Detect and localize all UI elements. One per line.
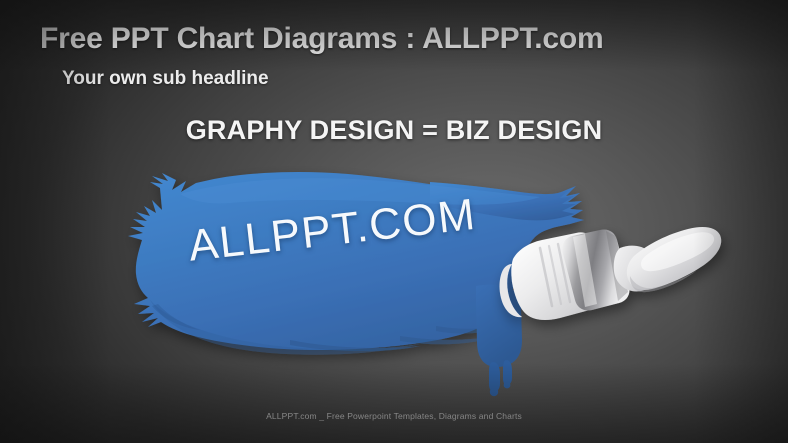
page-title: Free PPT Chart Diagrams : ALLPPT.com <box>40 22 760 56</box>
slide-canvas: Free PPT Chart Diagrams : ALLPPT.com You… <box>0 0 788 443</box>
sub-headline: Your own sub headline <box>62 68 269 90</box>
tagline: GRAPHY DESIGN = BIZ DESIGN <box>0 115 788 146</box>
footer-credit: ALLPPT.com _ Free Powerpoint Templates, … <box>0 411 788 421</box>
paintbrush <box>500 227 722 320</box>
paint-drip <box>476 285 522 397</box>
